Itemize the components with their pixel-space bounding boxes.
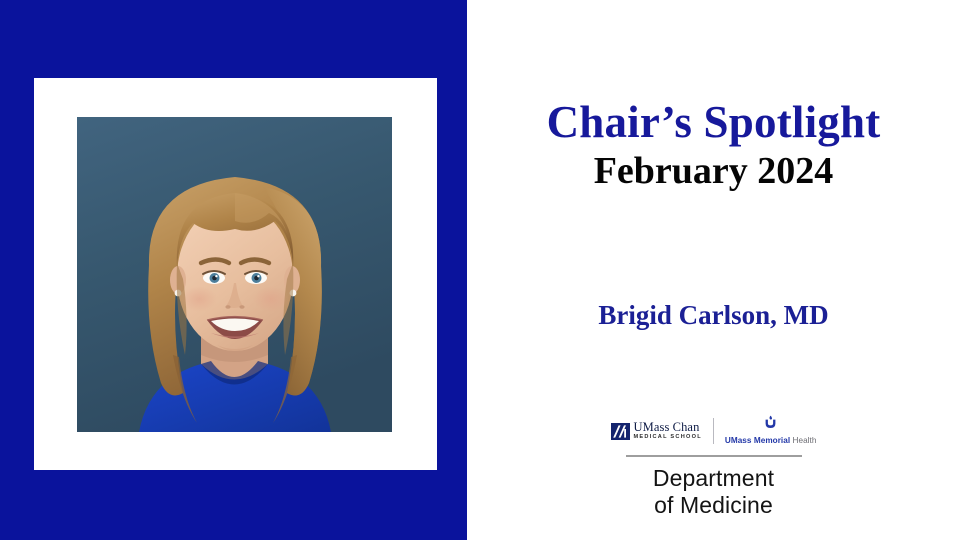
photo-frame	[34, 78, 437, 470]
umass-memorial-logo: UMass Memorial Health	[725, 415, 817, 447]
umass-memorial-wordmark: UMass Memorial Health	[725, 431, 817, 447]
umass-chan-tagline: MEDICAL SCHOOL	[634, 435, 702, 441]
logo-row: UMass Chan MEDICAL SCHOOL UMass Memorial…	[611, 414, 817, 448]
umass-chan-name: UMass Chan	[634, 421, 702, 434]
featured-person-name: Brigid Carlson, MD	[467, 298, 960, 332]
department-line-1: Department	[653, 465, 774, 492]
logo-divider	[713, 418, 714, 444]
page-subtitle: February 2024	[467, 148, 960, 194]
logo-lockup: UMass Chan MEDICAL SCHOOL UMass Memorial…	[467, 414, 960, 519]
content-panel: Chair’s Spotlight February 2024 Brigid C…	[467, 0, 960, 540]
umass-chan-mark-icon	[611, 423, 630, 440]
department-line-2: of Medicine	[653, 492, 774, 519]
photo-panel	[0, 0, 467, 540]
umass-chan-wordmark: UMass Chan MEDICAL SCHOOL	[634, 421, 702, 441]
portrait-photo	[77, 117, 392, 432]
logo-separator-rule	[626, 455, 802, 457]
umass-memorial-health: Health	[793, 436, 817, 445]
page-title: Chair’s Spotlight	[467, 96, 960, 148]
slide-canvas: Chair’s Spotlight February 2024 Brigid C…	[0, 0, 960, 540]
umass-memorial-name: UMass Memorial	[725, 436, 790, 445]
umass-memorial-flame-icon	[764, 415, 777, 429]
umass-chan-logo: UMass Chan MEDICAL SCHOOL	[611, 421, 702, 441]
department-name: Department of Medicine	[653, 465, 774, 519]
title-block: Chair’s Spotlight February 2024	[467, 96, 960, 194]
